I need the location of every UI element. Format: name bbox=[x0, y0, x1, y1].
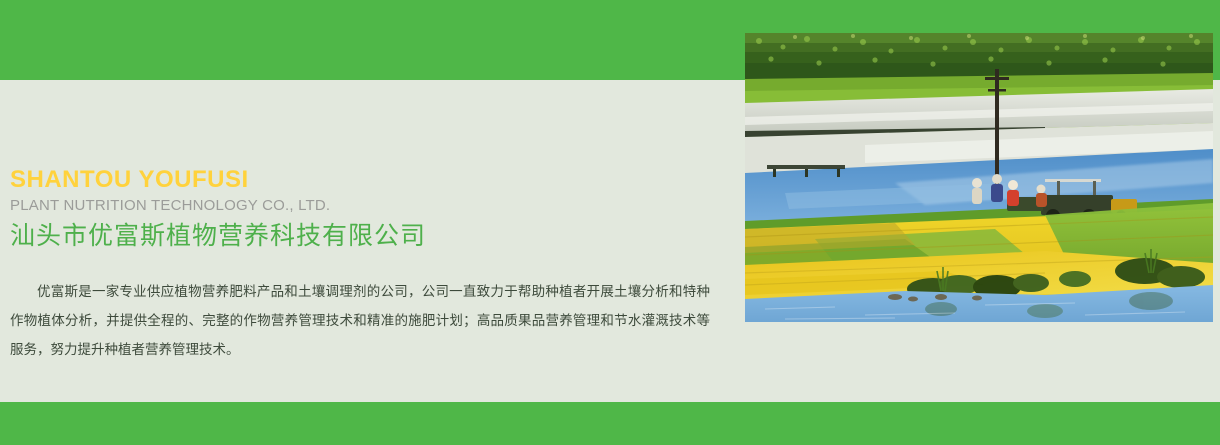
brand-block: SHANTOU YOUFUSI PLANT NUTRITION TECHNOLO… bbox=[10, 166, 720, 252]
brand-subtitle-en: PLANT NUTRITION TECHNOLOGY CO., LTD. bbox=[10, 196, 720, 216]
brand-name-en: SHANTOU YOUFUSI bbox=[10, 166, 720, 194]
company-intro-paragraph: 优富斯是一家专业供应植物营养肥料产品和土壤调理剂的公司，公司一直致力于帮助种植者… bbox=[10, 278, 710, 365]
page-root: SHANTOU YOUFUSI PLANT NUTRITION TECHNOLO… bbox=[0, 0, 1220, 445]
brand-name-cn: 汕头市优富斯植物营养科技有限公司 bbox=[10, 220, 720, 252]
footer-green-band bbox=[0, 402, 1220, 445]
rice-paddy-illustration bbox=[745, 33, 1213, 322]
hero-photo bbox=[745, 33, 1213, 322]
